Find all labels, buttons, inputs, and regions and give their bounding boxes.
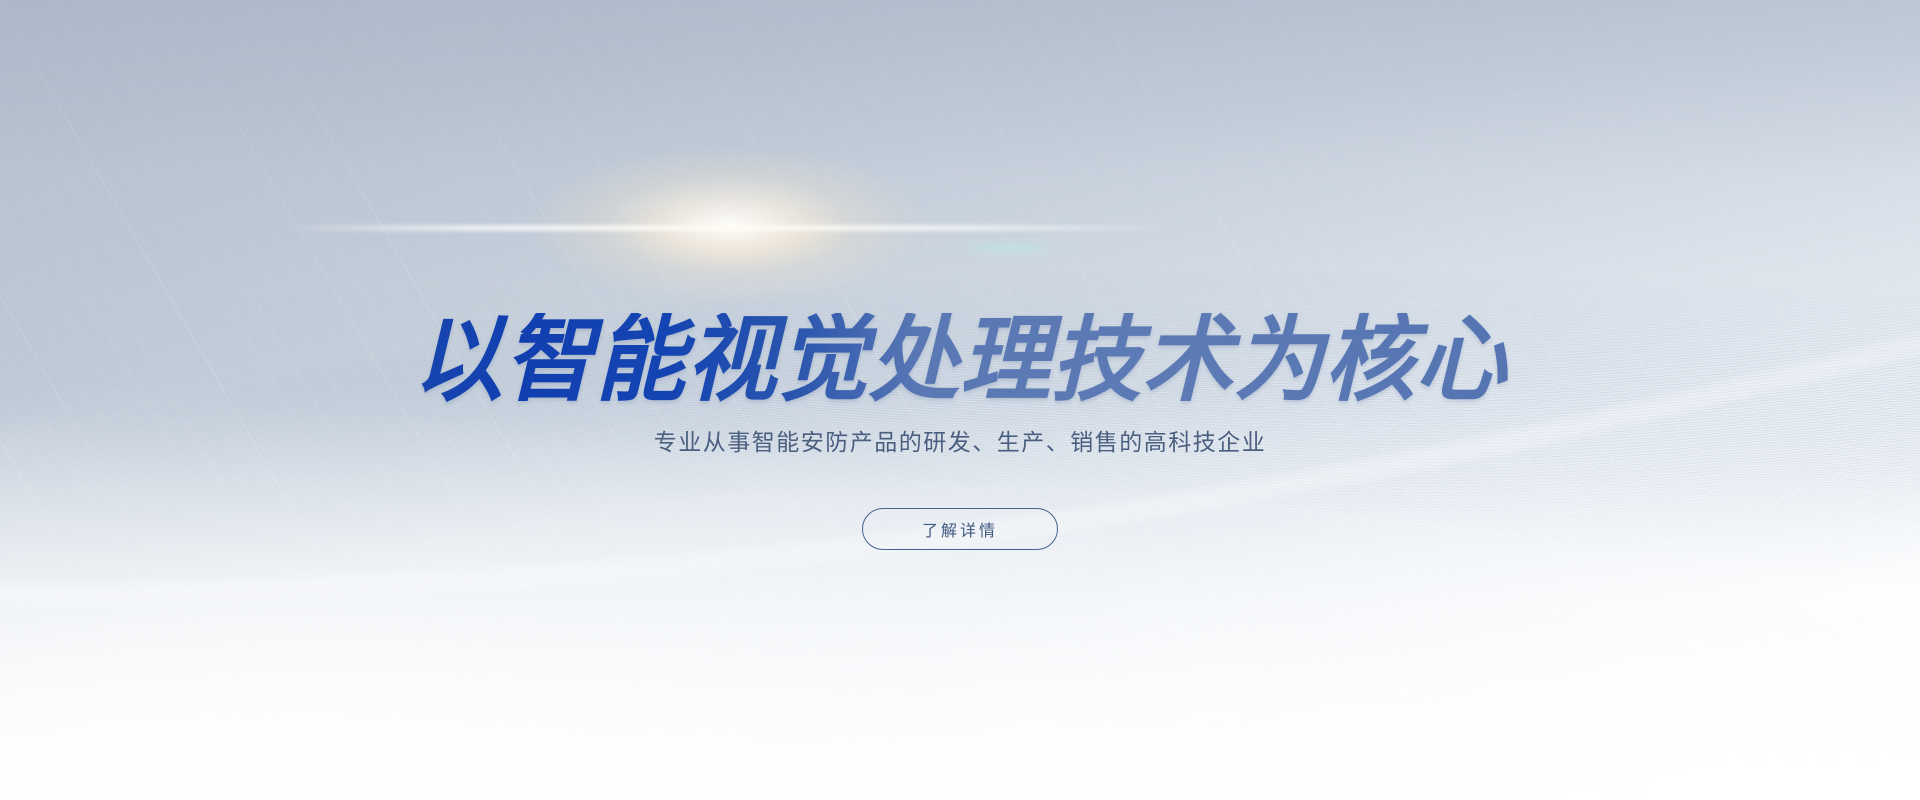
learn-more-button[interactable]: 了解详情 — [862, 508, 1058, 550]
hero-content: 以智能视觉处理技术为核心 专业从事智能安防产品的研发、生产、销售的高科技企业 了… — [0, 0, 1920, 800]
hero-banner: 以智能视觉处理技术为核心 专业从事智能安防产品的研发、生产、销售的高科技企业 了… — [0, 0, 1920, 800]
hero-headline: 以智能视觉处理技术为核心 — [38, 313, 1881, 407]
hero-subtitle: 专业从事智能安防产品的研发、生产、销售的高科技企业 — [0, 426, 1920, 458]
